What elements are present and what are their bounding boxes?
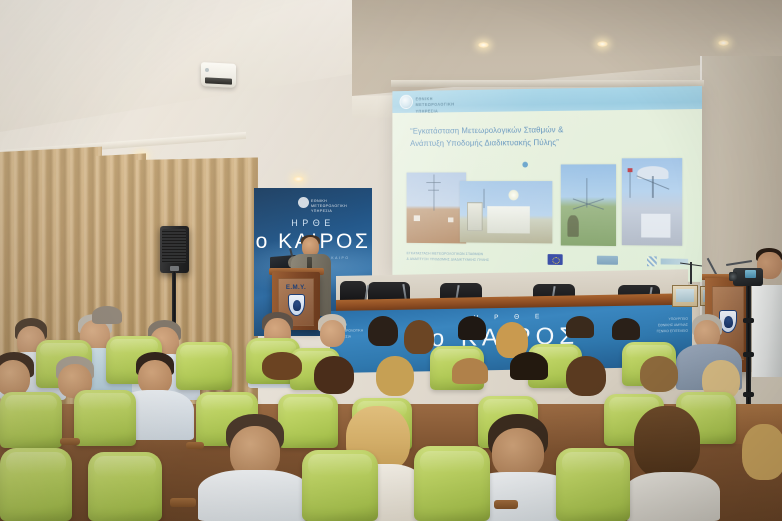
audience-person: [198, 470, 310, 521]
projection-screen: ΕΘΝΙΚΗ ΜΕΤΕΩΡΟΛΟΓΙΚΗ ΥΠΗΡΕΣΙΑ “Εγκατάστα…: [392, 86, 702, 282]
slide-caption-line-2: & ΑΝΑΠΤΥΞΗ ΥΠΟΔΟΜΗΣ ΔΙΑΔΙΚΤΥΑΚΗΣ ΠΥΛΗΣ: [407, 256, 544, 264]
ceiling-spotlight-icon: [478, 42, 489, 48]
auditorium-seat: [414, 446, 490, 521]
auditorium-seat: [0, 448, 72, 521]
audience-head: [92, 306, 122, 324]
auditorium-seat: [88, 452, 162, 521]
tripod-knob: [743, 352, 754, 357]
slide-header-logo-text: ΕΘΝΙΚΗ ΜΕΤΕΩΡΟΛΟΓΙΚΗ ΥΠΗΡΕΣΙΑ: [416, 96, 455, 115]
audience-head: [510, 352, 548, 380]
auditorium-seat: [176, 342, 232, 390]
slide-photo-weather-station-mast-field: [407, 172, 467, 243]
stage-banner-logo-text: ΕΘΝΙΚΗ ΜΕΤΕΩΡΟΛΟΓΙΚΗ ΥΠΗΡΕΣΙΑ: [311, 199, 347, 214]
audience-head: [458, 316, 486, 340]
audience-person: [624, 472, 720, 521]
seat-armrest: [60, 438, 80, 445]
audience-head: [566, 316, 594, 338]
auditorium-seat: [74, 390, 136, 446]
slide-surface: ΕΘΝΙΚΗ ΜΕΤΕΩΡΟΛΟΓΙΚΗ ΥΠΗΡΕΣΙΑ “Εγκατάστα…: [392, 86, 702, 282]
audience-head: [262, 352, 302, 380]
auditorium-seat: [302, 450, 378, 521]
air-conditioner-led: [205, 68, 209, 72]
audience-head: [368, 316, 398, 346]
audience-head: [640, 356, 678, 392]
emy-crest-icon: [298, 197, 309, 208]
seat-armrest: [494, 500, 518, 509]
slide-title-line-2: Ανάπτυξη Υποδομής Διαδικτυακής Πύλης”: [410, 135, 662, 149]
tripod-knob: [743, 318, 754, 323]
ministry-partner-logo: [647, 256, 657, 266]
audience-head: [376, 356, 414, 396]
audience-head: [320, 320, 345, 347]
auditorium-seat: [0, 392, 62, 448]
slide-logo-row: [548, 254, 688, 268]
pa-speaker-badge: [170, 266, 179, 271]
audience-head: [742, 424, 782, 480]
camera-lens-icon: [729, 272, 737, 281]
conference-hall-photo: ΕΘΝΙΚΗ ΜΕΤΕΩΡΟΛΟΓΙΚΗ ΥΠΗΡΕΣΙΑ “Εγκατάστα…: [0, 0, 782, 521]
stage-banner-line-1: ΗΡΘΕ: [254, 218, 372, 228]
camera-viewfinder: [745, 270, 756, 278]
pa-speaker-grill: [162, 229, 186, 263]
ceiling-spotlight-icon: [718, 40, 729, 46]
ceiling-spotlight-icon: [293, 176, 304, 182]
audience-head: [492, 428, 544, 478]
slide-photo-weather-station-shelter: [460, 181, 553, 243]
audience-head: [0, 360, 30, 396]
podium-label: Ε.Μ.Υ.: [278, 284, 314, 291]
seat-armrest: [186, 442, 204, 449]
cameraman-body: [752, 285, 782, 377]
ceiling-spotlight-icon: [597, 41, 608, 47]
backdrop-right-text: ΥΠΟΥΡΓΕΙΟ ΕΘΝΙΚΗΣ ΑΜΥΝΑΣ ΓΕΝΙΚΟ ΕΠΙΤΕΛΕΙ…: [636, 317, 688, 335]
seat-armrest: [170, 498, 196, 507]
audience-head: [634, 406, 700, 478]
slide-photo-anemometer-on-grass: [561, 164, 616, 246]
espa-programme-logo: [597, 256, 618, 265]
auditorium-seat: [556, 448, 630, 521]
audience-head: [566, 356, 606, 396]
eu-flag-logo: [548, 254, 563, 265]
audience-head: [404, 320, 434, 354]
audience-head: [452, 358, 488, 384]
panel-chair: [340, 281, 366, 301]
slide-title: “Εγκατάσταση Μετεωρολογικών Σταθμών & Αν…: [410, 122, 662, 149]
audience-head: [314, 356, 354, 394]
audience-head: [612, 318, 640, 340]
slide-caption: ΕΓΚΑΤΑΣΤΑΣΗ ΜΕΤΕΩΡΟΛΟΓΙΚΩΝ ΣΤΑΘΜΩΝ & ΑΝΑ…: [407, 250, 544, 264]
tripod-knob: [743, 392, 754, 397]
auditorium-seat: [278, 394, 338, 448]
slide-bullet-dot: [522, 162, 528, 168]
slide-photo-rooftop-radar: [622, 158, 682, 246]
instrument-window: [676, 289, 694, 302]
